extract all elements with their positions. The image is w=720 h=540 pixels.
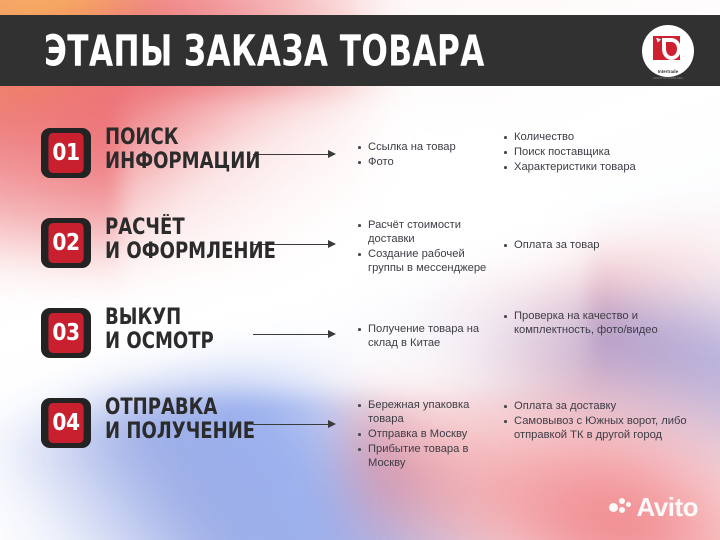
arrow-line (253, 424, 329, 425)
list-item: Ссылка на товар (357, 140, 491, 154)
step-number-badge: 03 (41, 308, 91, 358)
step-number: 01 (48, 133, 83, 173)
step-title: РАСЧЁТ И ОФОРМЛЕНИЕ (105, 216, 244, 264)
step-title: ВЫКУП И ОСМОТР (105, 306, 244, 354)
arrow-line (253, 334, 329, 335)
step-bullets-column-a: Расчёт стоимости доставки Создание рабоч… (357, 218, 491, 276)
arrow-head (328, 240, 336, 248)
list-item: Оплата за товар (503, 238, 693, 252)
steps-list: 01 ПОИСК ИНФОРМАЦИИ Ссылка на товар Фото… (0, 100, 720, 510)
step-title: ПОИСК ИНФОРМАЦИИ (105, 126, 244, 174)
infographic-poster: ЭТАПЫ ЗАКАЗА ТОВАРА Intertrade GROUP OF … (0, 0, 720, 540)
step-title-line2: ИНФОРМАЦИИ (105, 150, 244, 174)
logo-swoosh-icon (662, 38, 681, 60)
header-banner: ЭТАПЫ ЗАКАЗА ТОВАРА Intertrade GROUP OF … (0, 15, 720, 86)
step-title-line1: ОТПРАВКА (105, 395, 217, 420)
page-title: ЭТАПЫ ЗАКАЗА ТОВАРА (44, 29, 485, 72)
step-title-line1: ВЫКУП (105, 305, 181, 330)
step-bullets-column-a: Получение товара на склад в Китае (357, 322, 491, 351)
step-bullets-column-b: Проверка на качество и комплектность, фо… (503, 309, 693, 338)
step-bullets-column-b: Оплата за доставку Самовывоз с Южных вор… (503, 399, 693, 443)
avito-watermark: Avito (609, 494, 698, 520)
list-item: Отправка в Москву (357, 427, 491, 441)
list-item: Характеристики товара (503, 160, 693, 174)
list-item: Создание рабочей группы в мессенджере (357, 247, 491, 275)
list-item: Оплата за доставку (503, 399, 693, 413)
list-item: Количество (503, 130, 693, 144)
brand-logo: Intertrade GROUP OF COMPANIES (642, 25, 694, 77)
arrow-right-icon (253, 150, 345, 158)
logo-subtitle: GROUP OF COMPANIES (653, 77, 683, 80)
step-title-line1: РАСЧЁТ (105, 215, 185, 240)
list-item: Самовывоз с Южных ворот, либо отправкой … (503, 414, 693, 442)
arrow-head (328, 420, 336, 428)
list-item: Расчёт стоимости доставки (357, 218, 491, 246)
step-number: 02 (48, 223, 83, 263)
step-number-badge: 02 (41, 218, 91, 268)
list-item: Поиск поставщика (503, 145, 693, 159)
step-row: 04 ОТПРАВКА И ПОЛУЧЕНИЕ Бережная упаковк… (0, 398, 720, 498)
arrow-right-icon (253, 330, 345, 338)
logo-mark-icon: Intertrade GROUP OF COMPANIES (653, 36, 683, 66)
step-bullets-column-a: Бережная упаковка товара Отправка в Моск… (357, 398, 491, 471)
step-row: 01 ПОИСК ИНФОРМАЦИИ Ссылка на товар Фото… (0, 128, 720, 220)
list-item: Получение товара на склад в Китае (357, 322, 491, 350)
list-item: Бережная упаковка товара (357, 398, 491, 426)
step-number-badge: 04 (41, 398, 91, 448)
arrow-line (253, 154, 329, 155)
arrow-right-icon (253, 420, 345, 428)
logo-wordmark: Intertrade (653, 70, 683, 75)
step-title-line2: И ПОЛУЧЕНИЕ (105, 420, 244, 444)
step-row: 02 РАСЧЁТ И ОФОРМЛЕНИЕ Расчёт стоимости … (0, 218, 720, 310)
avito-wordmark: Avito (636, 494, 698, 520)
step-title: ОТПРАВКА И ПОЛУЧЕНИЕ (105, 396, 244, 444)
step-title-line1: ПОИСК (105, 125, 179, 150)
list-item: Прибытие товара в Москву (357, 442, 491, 470)
list-item: Проверка на качество и комплектность, фо… (503, 309, 693, 337)
avito-dots-icon (609, 498, 631, 516)
step-bullets-column-b: Оплата за товар (503, 238, 693, 253)
step-number: 04 (48, 403, 83, 443)
step-row: 03 ВЫКУП И ОСМОТР Получение товара на ск… (0, 308, 720, 400)
step-bullets-column-a: Ссылка на товар Фото (357, 140, 491, 170)
list-item: Фото (357, 155, 491, 169)
step-number: 03 (48, 313, 83, 353)
step-number-badge: 01 (41, 128, 91, 178)
arrow-head (328, 330, 336, 338)
step-bullets-column-b: Количество Поиск поставщика Характеристи… (503, 130, 693, 175)
arrow-head (328, 150, 336, 158)
step-title-line2: И ОСМОТР (105, 330, 244, 354)
step-title-line2: И ОФОРМЛЕНИЕ (105, 240, 244, 264)
